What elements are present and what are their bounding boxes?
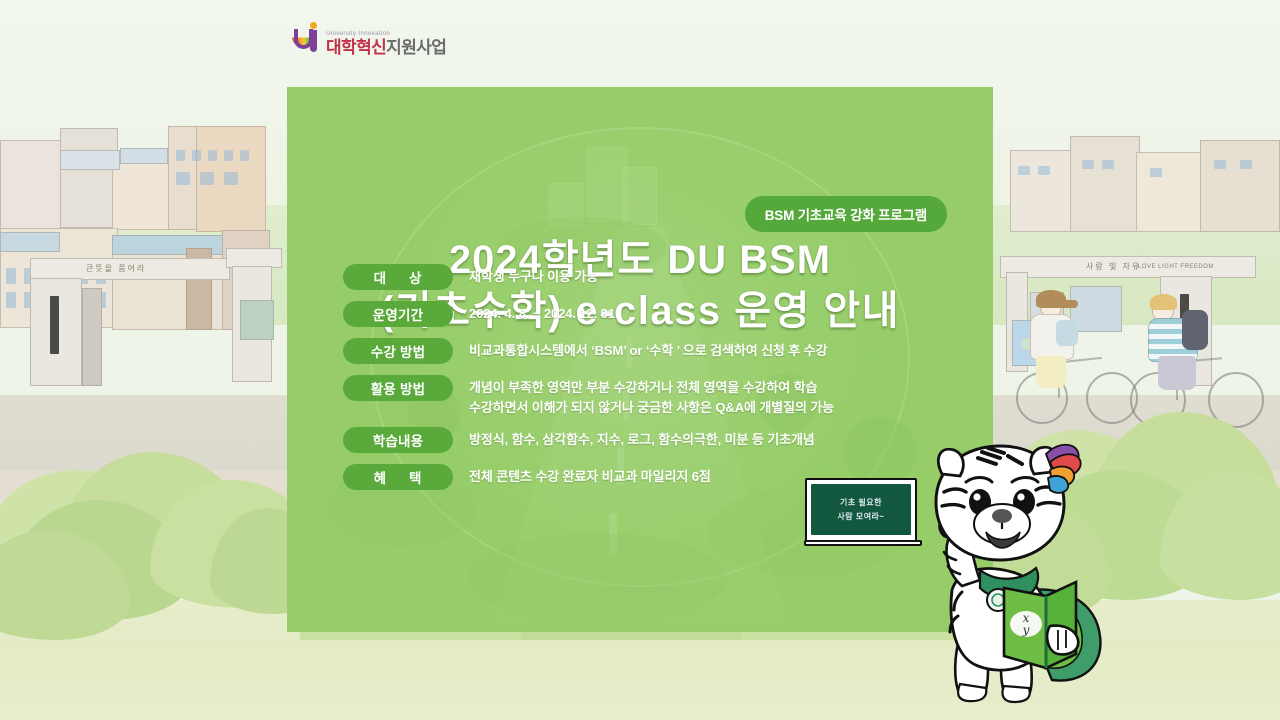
info-value-target-line1: 재학생 누구나 이용 가능 xyxy=(469,267,598,287)
info-value-enrollment-method-line1: 비교과통합시스템에서 ‘BSM’ or ‘수학 ’ 으로 검색하여 신청 후 수… xyxy=(469,341,827,361)
info-value-curriculum-line1: 방정식, 함수, 삼각함수, 지수, 로그, 함수의극한, 미분 등 기초개념 xyxy=(469,430,815,450)
logo-english-text: University Innovation xyxy=(326,31,446,37)
info-row-enrollment-method: 수강 방법 비교과통합시스템에서 ‘BSM’ or ‘수학 ’ 으로 검색하여 … xyxy=(343,338,943,364)
info-row-curriculum: 학습내용 방정식, 함수, 삼각함수, 지수, 로그, 함수의극한, 미분 등 … xyxy=(343,427,943,453)
info-value-period-line1: 2024. 4. 8. ~ 2024. 12. 31. xyxy=(469,304,618,324)
left-gate-sign-text: 큰뜻을 품어라 xyxy=(86,263,146,274)
info-value-target: 재학생 누구나 이용 가능 xyxy=(469,264,598,287)
info-label-target: 대상 xyxy=(343,264,453,290)
info-value-enrollment-method: 비교과통합시스템에서 ‘BSM’ or ‘수학 ’ 으로 검색하여 신청 후 수… xyxy=(469,338,827,361)
info-label-period: 운영기간 xyxy=(343,301,453,327)
info-value-benefit-line1: 전체 콘텐츠 수강 완료자 비교과 마일리지 6점 xyxy=(469,467,711,487)
right-gate-sign-english: LOVE LIGHT FREEDOM xyxy=(1138,264,1214,270)
chalkboard-line2: 사람 모여라~ xyxy=(837,511,884,522)
info-value-benefit: 전체 콘텐츠 수강 완료자 비교과 마일리지 6점 xyxy=(469,464,711,487)
chalkboard-surface: 기초 필요한 사람 모여라~ xyxy=(811,484,911,535)
program-badge: BSM 기초교육 강화 프로그램 xyxy=(745,196,947,232)
info-label-benefit: 혜택 xyxy=(343,464,453,490)
right-gate-sign-korean: 사랑 빛 자유 xyxy=(1086,261,1141,272)
book-label-y: y xyxy=(1022,623,1030,637)
info-label-usage-method: 활용 방법 xyxy=(343,375,453,401)
poster-panel: BSM 기초교육 강화 프로그램 2024학년도 DU BSM (기초수학) e… xyxy=(287,87,993,632)
white-tiger-mascot: x y xyxy=(900,440,1130,715)
logo-korean-text: 대학혁신지원사업 xyxy=(326,39,446,56)
chalkboard-line1: 기초 필요한 xyxy=(840,497,882,508)
info-value-usage-method: 개념이 부족한 영역만 부분 수강하거나 전체 영역을 수강하여 학습 수강하면… xyxy=(469,375,834,418)
info-value-period: 2024. 4. 8. ~ 2024. 12. 31. xyxy=(469,301,618,324)
info-value-usage-method-line2: 수강하면서 이해가 되지 않거나 궁금한 사항은 Q&A에 개별질의 가능 xyxy=(469,398,834,418)
poster-info-list: 대상 재학생 누구나 이용 가능 운영기간 2024. 4. 8. ~ 2024… xyxy=(343,264,943,501)
university-innovation-logo: University Innovation 대학혁신지원사업 xyxy=(292,16,467,56)
info-label-curriculum: 학습내용 xyxy=(343,427,453,453)
info-row-usage-method: 활용 방법 개념이 부족한 영역만 부분 수강하거나 전체 영역을 수강하여 학… xyxy=(343,375,943,418)
info-row-period: 운영기간 2024. 4. 8. ~ 2024. 12. 31. xyxy=(343,301,943,327)
logo-korean-gray: 지원사업 xyxy=(386,38,446,57)
info-value-usage-method-line1: 개념이 부족한 영역만 부분 수강하거나 전체 영역을 수강하여 학습 xyxy=(469,378,834,398)
info-value-curriculum: 방정식, 함수, 삼각함수, 지수, 로그, 함수의극한, 미분 등 기초개념 xyxy=(469,427,815,450)
info-row-target: 대상 재학생 누구나 이용 가능 xyxy=(343,264,943,290)
info-label-enrollment-method: 수강 방법 xyxy=(343,338,453,364)
logo-korean-red: 대학혁신 xyxy=(326,38,386,57)
logo-mark-icon xyxy=(292,20,322,56)
